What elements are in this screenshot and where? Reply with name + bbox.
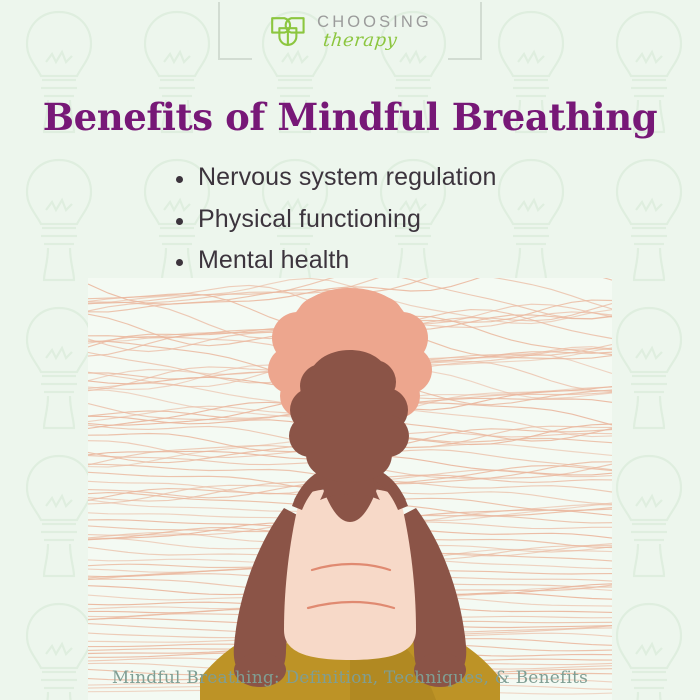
list-item: Physical functioning — [172, 202, 496, 238]
lotus-leaf-icon — [268, 14, 308, 50]
corner-bracket-right-icon — [448, 2, 482, 60]
list-item: Mental health — [172, 243, 496, 279]
woman-lotus-pose-graphic — [88, 278, 612, 700]
poster-canvas: CHOOSING therapy Benefits of Mindful Bre… — [0, 0, 700, 700]
logo-primary-text: CHOOSING — [317, 14, 432, 31]
caption-text: Mindful Breathing: Definition, Technique… — [0, 668, 700, 688]
meditation-illustration — [88, 278, 612, 700]
corner-bracket-left-icon — [218, 2, 252, 60]
brand-logo[interactable]: CHOOSING therapy — [268, 14, 432, 50]
logo-script-text: therapy — [322, 32, 433, 50]
benefits-list: Nervous system regulation Physical funct… — [172, 160, 496, 285]
page-title: Benefits of Mindful Breathing — [0, 95, 700, 139]
logo-wordmark: CHOOSING therapy — [317, 14, 432, 50]
header: CHOOSING therapy — [0, 0, 700, 78]
list-item: Nervous system regulation — [172, 160, 496, 196]
